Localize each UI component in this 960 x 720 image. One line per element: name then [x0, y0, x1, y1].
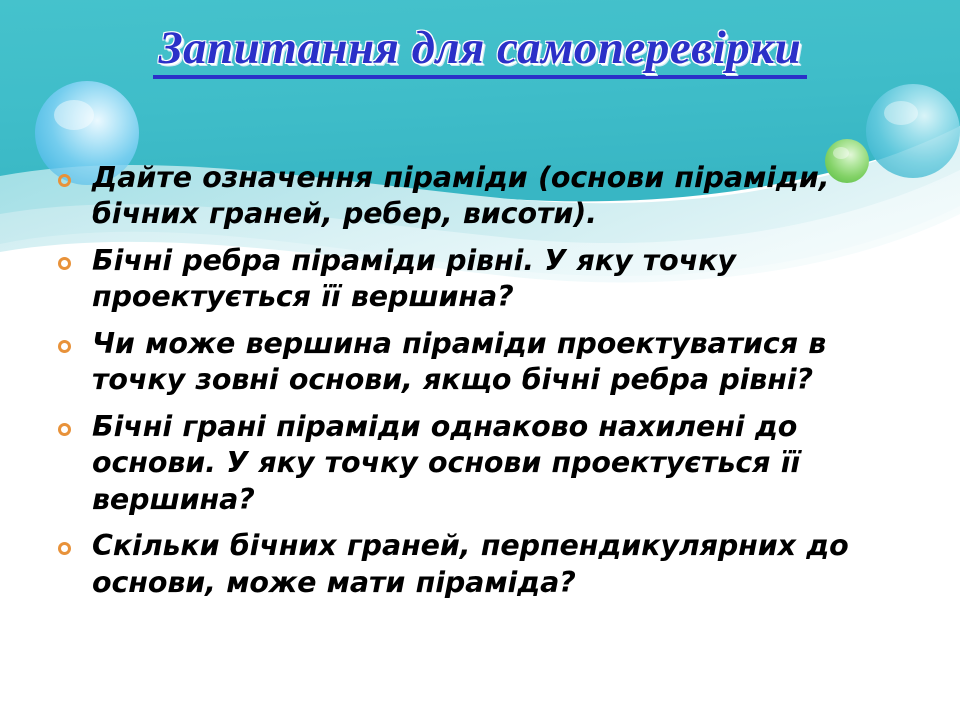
list-item: Бічні ребра піраміди рівні. У яку точку … — [58, 243, 920, 316]
ring-bullet-icon — [58, 174, 71, 187]
slide-canvas: Запитання для самоперевірки Дайте означе… — [0, 0, 960, 720]
question-list: Дайте означення піраміди (основи пірамід… — [58, 160, 920, 611]
ring-bullet-icon — [58, 423, 71, 436]
question-text: Скільки бічних граней, перпендикулярних … — [92, 528, 920, 601]
slide-title: Запитання для самоперевірки — [153, 24, 808, 79]
ring-bullet-icon — [58, 542, 71, 555]
list-item: Скільки бічних граней, перпендикулярних … — [58, 528, 920, 601]
ring-bullet-icon — [58, 257, 71, 270]
question-text: Бічні грані піраміди однаково нахилені д… — [92, 409, 920, 518]
sphere-right-green-highlight — [833, 147, 849, 159]
question-text: Дайте означення піраміди (основи пірамід… — [92, 160, 920, 233]
ring-bullet-icon — [58, 340, 71, 353]
question-text: Бічні ребра піраміди рівні. У яку точку … — [92, 243, 920, 316]
list-item: Чи може вершина піраміди проектуватися в… — [58, 326, 920, 399]
list-item: Дайте означення піраміди (основи пірамід… — [58, 160, 920, 233]
slide-title-container: Запитання для самоперевірки — [0, 24, 960, 79]
sphere-right-teal-highlight — [884, 101, 918, 125]
list-item: Бічні грані піраміди однаково нахилені д… — [58, 409, 920, 518]
sphere-left-highlight — [54, 100, 94, 130]
question-text: Чи може вершина піраміди проектуватися в… — [92, 326, 920, 399]
